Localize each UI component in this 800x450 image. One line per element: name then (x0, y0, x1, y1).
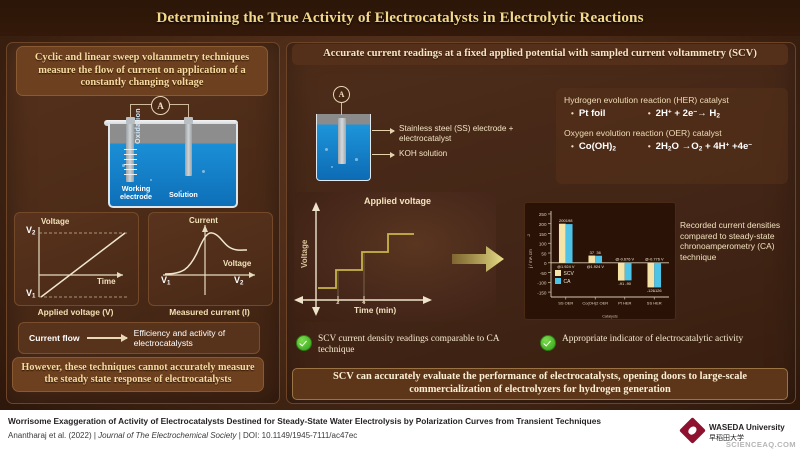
koh-solution-annotation: KOH solution (399, 149, 519, 159)
citation-sep: | (239, 431, 241, 440)
footer-bar: Worrisome Exaggeration of Activity of El… (0, 410, 800, 450)
svg-text:SS OER: SS OER (558, 301, 573, 306)
svg-text:250: 250 (539, 212, 547, 217)
svg-text:36: 36 (596, 250, 601, 255)
bullet-icon: • (648, 109, 651, 118)
measured-current-chart: Current Voltage V1 V2 (148, 212, 273, 306)
cell-wire (341, 101, 342, 115)
svg-text:100: 100 (539, 242, 547, 247)
svg-text:-90: -90 (625, 281, 632, 286)
svg-text:Co(OH)2 OER: Co(OH)2 OER (582, 301, 608, 306)
mini1-v1-label: V1 (26, 288, 35, 299)
electrode-rung (124, 174, 137, 175)
mini1-v2-label: V2 (26, 225, 35, 236)
infographic-poster: Determining the True Activity of Electro… (0, 0, 800, 450)
bullet-icon: • (648, 142, 651, 151)
her-equation: 2H+ + 2e−→ H2 (656, 108, 720, 119)
her-heading: Hydrogen evolution reaction (HER) cataly… (564, 95, 780, 105)
counter-electrode (185, 124, 192, 176)
right-panel-header: Accurate current readings at a fixed app… (292, 44, 788, 65)
staircase-x-label: Time (min) (354, 305, 396, 315)
big-arrow-icon (452, 244, 504, 274)
bar-chart-svg: 250200150100500-50-100-150j / mA cm-2200… (525, 203, 675, 319)
svg-text:@1.924 V: @1.924 V (557, 264, 575, 269)
measured-current-svg (149, 213, 272, 305)
svg-text:j / mA cm: j / mA cm (528, 249, 533, 269)
applied-voltage-caption: Applied voltage (V) (14, 307, 137, 317)
oer-catalyst: Co(OH)2 (579, 141, 641, 152)
efficiency-activity-label: Efficiency and activity of electrocataly… (134, 328, 259, 348)
paper-doi: DOI: 10.1149/1945-7111/ac47ec (243, 431, 357, 440)
her-row: • Pt foil • 2H+ + 2e−→ H2 (564, 108, 780, 119)
electrode-rung (124, 154, 137, 155)
staircase-tick-2: 2 (336, 299, 340, 306)
solution-label: Solution (169, 190, 198, 199)
svg-text:@-0.776 V: @-0.776 V (645, 257, 664, 262)
mini2-x-label: Voltage (223, 259, 251, 268)
chart-note: Recorded current densities compared to s… (680, 220, 792, 262)
svg-text:SCV: SCV (564, 271, 575, 277)
paper-authors: Anantharaj et al. (2022) (8, 431, 92, 440)
page-title: Determining the True Activity of Electro… (156, 9, 643, 27)
svg-text:Catalysts: Catalysts (602, 315, 618, 319)
ammeter-icon: A (333, 86, 350, 103)
electrode-rung (124, 159, 137, 160)
flow-arrow-icon (87, 337, 127, 339)
bullet-icon: • (571, 142, 574, 151)
svg-text:-150: -150 (537, 290, 547, 295)
svg-text:198: 198 (566, 218, 573, 223)
svg-text:-91: -91 (618, 281, 625, 286)
check-text-1: SCV current density readings comparable … (318, 334, 532, 356)
annotation-arrow-1-icon (372, 130, 394, 131)
ss-electrode-annotation: Stainless steel (SS) electrode + electro… (399, 124, 519, 144)
ammeter-icon: A (151, 96, 170, 115)
annotation-arrow-2-icon (372, 154, 394, 155)
current-flow-box: Current flow Efficiency and activity of … (18, 322, 260, 354)
bubble (202, 170, 205, 173)
reactions-box: Hydrogen evolution reaction (HER) cataly… (556, 88, 788, 184)
oxidation-label: Oxidation (133, 108, 142, 144)
paper-title: Worrisome Exaggeration of Activity of El… (8, 416, 648, 426)
mini2-y-label: Current (189, 216, 218, 225)
svg-text:@1.924 V: @1.924 V (587, 264, 605, 269)
mini2-v2-label: V2 (234, 275, 243, 286)
current-flow-label: Current flow (29, 333, 80, 343)
left-panel-footer: However, these techniques cannot accurat… (12, 357, 264, 392)
check-circle-icon (296, 335, 312, 351)
paper-journal: Journal of The Electrochemical Society (98, 431, 236, 440)
svg-text:Pt HER: Pt HER (618, 301, 631, 306)
electrode-rung (124, 149, 137, 150)
terminal-right (184, 117, 193, 124)
bubble (331, 166, 333, 168)
svg-text:-100: -100 (537, 281, 547, 286)
oer-row: • Co(OH)2 • 2H2O →O2 + 4H+ +4e− (564, 141, 780, 152)
electrolysis-cell (316, 114, 371, 181)
svg-text:SS HER: SS HER (647, 301, 662, 306)
wire-right-horizontal (167, 104, 189, 105)
wire-left-horizontal (130, 104, 152, 105)
current-density-bar-chart: 250200150100500-50-100-150j / mA cm-2200… (524, 202, 676, 320)
bubble (325, 148, 328, 151)
title-bar: Determining the True Activity of Electro… (0, 0, 800, 36)
svg-text:50: 50 (541, 251, 547, 256)
watermark: SCIENCEAQ.COM (726, 440, 796, 449)
electrode-rung (124, 164, 137, 165)
svg-text:CA: CA (564, 279, 572, 285)
bubble (355, 158, 358, 161)
citation-sep: | (94, 431, 96, 440)
check-row-2: Appropriate indicator of electrocatalyti… (540, 334, 790, 364)
bubble (150, 179, 152, 181)
left-panel-header: Cyclic and linear sweep voltammetry tech… (16, 46, 268, 96)
scv-cell-diagram: A Stainless steel (SS) electrode + elect… (300, 86, 550, 184)
bullet-icon: • (571, 109, 574, 118)
svg-text:150: 150 (539, 232, 547, 237)
oer-equation: 2H2O →O2 + 4H+ +4e− (656, 141, 752, 152)
working-electrode-label: Working electrode (114, 185, 158, 201)
mini2-v1-label: V1 (161, 275, 170, 286)
electrode-rung (124, 169, 137, 170)
svg-text:-50: -50 (540, 271, 547, 276)
waseda-logo-icon (679, 417, 706, 444)
check-row-1: SCV current density readings comparable … (296, 334, 532, 364)
staircase-tick-4: 4 (362, 299, 366, 306)
staircase-title: Applied voltage (364, 196, 431, 206)
ss-electrode (338, 118, 346, 164)
svg-text:-2: -2 (527, 234, 531, 237)
check-text-2: Appropriate indicator of electrocatalyti… (562, 334, 743, 345)
cv-beaker-diagram: A Oxidation Working electrode Solution (20, 96, 270, 206)
svg-text:37: 37 (590, 250, 595, 255)
her-catalyst: Pt foil (579, 108, 641, 119)
mini1-y-label: Voltage (41, 217, 69, 226)
oer-heading: Oxygen evolution reaction (OER) catalyst (564, 128, 780, 138)
check-circle-icon (540, 335, 556, 351)
svg-text:@-0.676 V: @-0.676 V (615, 257, 634, 262)
svg-text:0: 0 (544, 261, 547, 266)
staircase-y-label: Voltage (300, 240, 309, 268)
waseda-logo-line1: WASEDA University (709, 423, 785, 432)
svg-text:-126: -126 (654, 288, 663, 293)
conclusion-banner: SCV can accurately evaluate the performa… (292, 368, 788, 400)
paper-citation: Anantharaj et al. (2022) | Journal of Th… (8, 431, 648, 440)
measured-current-caption: Measured current (I) (148, 307, 271, 317)
svg-text:200: 200 (539, 222, 547, 227)
applied-voltage-chart: Voltage Time V2 V1 (14, 212, 139, 306)
mini1-x-label: Time (97, 277, 116, 286)
